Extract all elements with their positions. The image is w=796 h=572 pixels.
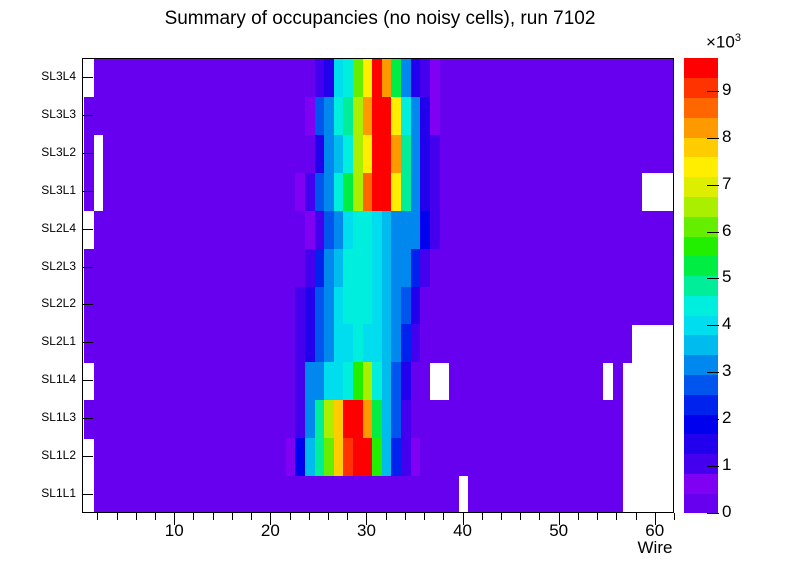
heatmap-cell bbox=[382, 59, 392, 97]
heatmap-cell bbox=[94, 59, 104, 97]
heatmap-cell bbox=[324, 287, 334, 325]
heatmap-cell bbox=[238, 249, 248, 287]
heatmap-cell bbox=[180, 287, 190, 325]
heatmap-cell bbox=[603, 173, 613, 211]
heatmap-cell bbox=[613, 324, 623, 362]
heatmap-cell bbox=[526, 249, 536, 287]
heatmap-cell bbox=[276, 324, 286, 362]
heatmap-cell bbox=[574, 249, 584, 287]
heatmap-cell bbox=[343, 173, 353, 211]
heatmap-cell bbox=[411, 173, 421, 211]
heatmap-cell bbox=[622, 59, 632, 97]
heatmap-cell bbox=[315, 59, 325, 97]
heatmap-cell bbox=[190, 362, 200, 400]
heatmap-cell bbox=[228, 362, 238, 400]
heatmap-cell bbox=[401, 438, 411, 476]
heatmap-cell bbox=[132, 438, 142, 476]
heatmap-cell bbox=[334, 211, 344, 249]
heatmap-cell bbox=[247, 287, 257, 325]
heatmap-cell bbox=[641, 135, 651, 173]
heatmap-cell bbox=[382, 135, 392, 173]
heatmap-cell bbox=[113, 438, 123, 476]
heatmap-cell bbox=[459, 287, 469, 325]
heatmap-cell bbox=[142, 362, 152, 400]
heatmap-cell bbox=[478, 135, 488, 173]
heatmap-cell bbox=[170, 324, 180, 362]
heatmap-cell bbox=[103, 324, 113, 362]
heatmap-cell bbox=[132, 362, 142, 400]
heatmap-cell bbox=[161, 135, 171, 173]
heatmap-cell bbox=[151, 287, 161, 325]
heatmap-cell bbox=[440, 59, 450, 97]
heatmap-cell bbox=[478, 438, 488, 476]
heatmap-cell bbox=[113, 135, 123, 173]
heatmap-cell bbox=[411, 400, 421, 438]
heatmap-cell bbox=[286, 173, 296, 211]
heatmap-cell bbox=[516, 173, 526, 211]
heatmap-cell bbox=[219, 211, 229, 249]
heatmap-cell bbox=[363, 97, 373, 135]
y-axis-tick-label: SL3L3 bbox=[0, 107, 76, 121]
colorbar-band bbox=[684, 58, 718, 78]
x-axis-tick bbox=[386, 513, 387, 520]
heatmap-cell bbox=[459, 249, 469, 287]
heatmap-cell bbox=[382, 97, 392, 135]
heatmap-cell bbox=[199, 249, 209, 287]
heatmap-cell bbox=[209, 324, 219, 362]
heatmap-cell bbox=[382, 287, 392, 325]
heatmap-cell bbox=[440, 211, 450, 249]
heatmap-cell bbox=[257, 400, 267, 438]
heatmap-cell bbox=[391, 324, 401, 362]
heatmap-cell bbox=[334, 249, 344, 287]
y-axis-tick bbox=[82, 342, 93, 343]
heatmap-cell bbox=[142, 476, 152, 513]
heatmap-cell bbox=[584, 249, 594, 287]
heatmap-cell bbox=[603, 400, 613, 438]
x-axis-tick bbox=[578, 513, 579, 520]
heatmap-cell bbox=[468, 324, 478, 362]
heatmap-cell bbox=[257, 324, 267, 362]
heatmap-cell bbox=[468, 400, 478, 438]
heatmap-cell bbox=[478, 211, 488, 249]
heatmap-cell bbox=[574, 400, 584, 438]
heatmap-cell bbox=[180, 438, 190, 476]
heatmap-cell bbox=[545, 324, 555, 362]
y-axis-tick bbox=[82, 229, 93, 230]
heatmap-cell bbox=[488, 362, 498, 400]
heatmap-cell bbox=[286, 211, 296, 249]
heatmap-cell bbox=[459, 135, 469, 173]
heatmap-cell bbox=[536, 173, 546, 211]
heatmap-cell bbox=[516, 324, 526, 362]
colorbar-band bbox=[684, 117, 718, 137]
heatmap-cell bbox=[449, 211, 459, 249]
colorbar-tick-label: 5 bbox=[722, 267, 731, 287]
heatmap-cell bbox=[295, 476, 305, 513]
heatmap-cell bbox=[488, 173, 498, 211]
heatmap-cell bbox=[219, 59, 229, 97]
heatmap-cell bbox=[622, 135, 632, 173]
heatmap-cell bbox=[103, 249, 113, 287]
heatmap-cell bbox=[545, 173, 555, 211]
heatmap-cell bbox=[488, 438, 498, 476]
heatmap-cell bbox=[564, 135, 574, 173]
heatmap-cell bbox=[661, 287, 671, 325]
heatmap-cell bbox=[122, 211, 132, 249]
heatmap-cell bbox=[411, 476, 421, 513]
heatmap-cell bbox=[199, 59, 209, 97]
heatmap-cell bbox=[411, 287, 421, 325]
heatmap-cell bbox=[430, 324, 440, 362]
heatmap-cell bbox=[324, 249, 334, 287]
heatmap-cell bbox=[343, 438, 353, 476]
heatmap-cell bbox=[170, 211, 180, 249]
heatmap-cell bbox=[516, 249, 526, 287]
heatmap-cell bbox=[228, 400, 238, 438]
colorbar-band bbox=[684, 157, 718, 177]
heatmap-cell bbox=[103, 400, 113, 438]
heatmap-cell bbox=[151, 438, 161, 476]
heatmap-cell bbox=[219, 400, 229, 438]
heatmap-cell bbox=[497, 362, 507, 400]
heatmap-cell bbox=[641, 97, 651, 135]
x-axis-tick bbox=[251, 513, 252, 520]
heatmap-cell bbox=[564, 400, 574, 438]
heatmap-cell bbox=[382, 249, 392, 287]
heatmap-cell bbox=[449, 249, 459, 287]
heatmap-cell bbox=[219, 438, 229, 476]
heatmap-cell bbox=[468, 362, 478, 400]
heatmap-cell bbox=[584, 211, 594, 249]
heatmap-cell bbox=[353, 287, 363, 325]
heatmap-cell bbox=[267, 438, 277, 476]
heatmap-cell bbox=[286, 324, 296, 362]
heatmap-cell bbox=[199, 400, 209, 438]
heatmap-cell bbox=[420, 211, 430, 249]
y-axis-tick bbox=[82, 115, 93, 116]
heatmap-cell bbox=[363, 362, 373, 400]
colorbar-exponent-label: ×103 bbox=[706, 32, 741, 53]
heatmap-cell bbox=[545, 211, 555, 249]
heatmap-cell bbox=[516, 59, 526, 97]
heatmap-cell bbox=[295, 287, 305, 325]
heatmap-cell bbox=[564, 362, 574, 400]
heatmap-cell bbox=[363, 438, 373, 476]
heatmap-cell bbox=[170, 438, 180, 476]
heatmap-cell bbox=[315, 287, 325, 325]
heatmap-cell bbox=[315, 211, 325, 249]
heatmap-cell bbox=[507, 249, 517, 287]
heatmap-cell bbox=[228, 476, 238, 513]
y-axis-tick bbox=[82, 380, 93, 381]
x-axis-title: Wire bbox=[620, 538, 690, 558]
heatmap-cell bbox=[94, 362, 104, 400]
colorbar-tick bbox=[707, 419, 719, 420]
heatmap-cell bbox=[411, 438, 421, 476]
heatmap-cell bbox=[142, 400, 152, 438]
heatmap-cell bbox=[142, 135, 152, 173]
heatmap-cell bbox=[430, 249, 440, 287]
heatmap-cell bbox=[516, 135, 526, 173]
heatmap-cell bbox=[526, 438, 536, 476]
heatmap-cell bbox=[257, 476, 267, 513]
heatmap-cell bbox=[584, 362, 594, 400]
x-axis-tick bbox=[309, 513, 310, 520]
heatmap-cell bbox=[353, 59, 363, 97]
heatmap-cell bbox=[401, 476, 411, 513]
heatmap-cell bbox=[199, 135, 209, 173]
heatmap-cell bbox=[151, 249, 161, 287]
heatmap-cell bbox=[267, 476, 277, 513]
heatmap-cell bbox=[257, 249, 267, 287]
heatmap-cell bbox=[170, 173, 180, 211]
heatmap-cell bbox=[247, 438, 257, 476]
heatmap-cell bbox=[574, 135, 584, 173]
heatmap-cell bbox=[430, 400, 440, 438]
heatmap-cell bbox=[190, 135, 200, 173]
heatmap-cell bbox=[632, 287, 642, 325]
heatmap-cell bbox=[305, 249, 315, 287]
heatmap-cell bbox=[315, 135, 325, 173]
heatmap-cell bbox=[545, 438, 555, 476]
heatmap-cell bbox=[391, 287, 401, 325]
heatmap-cell bbox=[353, 324, 363, 362]
heatmap-plot-area[interactable] bbox=[82, 58, 674, 513]
x-axis-tick bbox=[539, 513, 540, 520]
x-axis-tick-label: 50 bbox=[539, 521, 579, 541]
heatmap-cell bbox=[343, 400, 353, 438]
heatmap-cell bbox=[228, 59, 238, 97]
heatmap-cell bbox=[324, 324, 334, 362]
heatmap-cell bbox=[641, 211, 651, 249]
heatmap-cell bbox=[161, 211, 171, 249]
heatmap-cell bbox=[276, 249, 286, 287]
heatmap-cell bbox=[238, 173, 248, 211]
heatmap-cell bbox=[536, 97, 546, 135]
heatmap-cell bbox=[507, 400, 517, 438]
heatmap-cell bbox=[334, 59, 344, 97]
heatmap-cell bbox=[142, 173, 152, 211]
heatmap-cell bbox=[440, 438, 450, 476]
heatmap-cell bbox=[343, 135, 353, 173]
heatmap-cell bbox=[247, 362, 257, 400]
heatmap-cell bbox=[267, 173, 277, 211]
heatmap-cell bbox=[478, 400, 488, 438]
heatmap-cell bbox=[199, 362, 209, 400]
heatmap-cell bbox=[603, 135, 613, 173]
heatmap-cell bbox=[113, 211, 123, 249]
y-axis-tick bbox=[82, 304, 93, 305]
heatmap-cell bbox=[382, 438, 392, 476]
heatmap-cell bbox=[257, 438, 267, 476]
heatmap-cell bbox=[440, 173, 450, 211]
heatmap-cell bbox=[459, 59, 469, 97]
heatmap-cell bbox=[343, 97, 353, 135]
heatmap-cell bbox=[593, 287, 603, 325]
heatmap-cell bbox=[103, 59, 113, 97]
heatmap-cell bbox=[161, 400, 171, 438]
heatmap-cell bbox=[372, 287, 382, 325]
heatmap-cell bbox=[391, 400, 401, 438]
heatmap-cell bbox=[564, 287, 574, 325]
heatmap-cell bbox=[238, 211, 248, 249]
heatmap-cell bbox=[84, 324, 94, 362]
heatmap-cell bbox=[151, 476, 161, 513]
heatmap-cell bbox=[420, 324, 430, 362]
heatmap-cell bbox=[603, 287, 613, 325]
heatmap-cell bbox=[536, 476, 546, 513]
heatmap-cell bbox=[295, 324, 305, 362]
heatmap-cell bbox=[305, 287, 315, 325]
heatmap-cell bbox=[382, 476, 392, 513]
heatmap-cell bbox=[170, 362, 180, 400]
heatmap-cell bbox=[670, 135, 674, 173]
heatmap-cell bbox=[295, 249, 305, 287]
heatmap-cell bbox=[584, 97, 594, 135]
heatmap-cell bbox=[545, 97, 555, 135]
heatmap-cell bbox=[420, 249, 430, 287]
heatmap-cell bbox=[295, 173, 305, 211]
heatmap-cell bbox=[651, 135, 661, 173]
heatmap-cell bbox=[459, 400, 469, 438]
colorbar-tick bbox=[707, 232, 719, 233]
heatmap-cell bbox=[94, 400, 104, 438]
heatmap-cell bbox=[593, 476, 603, 513]
x-axis-tick bbox=[674, 513, 675, 520]
colorbar-band bbox=[684, 375, 718, 395]
heatmap-cell bbox=[545, 362, 555, 400]
heatmap-cell bbox=[295, 438, 305, 476]
heatmap-cell bbox=[353, 135, 363, 173]
colorbar[interactable] bbox=[684, 58, 718, 513]
heatmap-cell bbox=[622, 211, 632, 249]
heatmap-cell bbox=[353, 249, 363, 287]
heatmap-cell bbox=[478, 249, 488, 287]
x-axis-tick bbox=[405, 513, 406, 520]
colorbar-tick bbox=[707, 513, 719, 514]
heatmap-cell bbox=[372, 97, 382, 135]
heatmap-cell bbox=[324, 97, 334, 135]
heatmap-cell bbox=[122, 362, 132, 400]
heatmap-cell bbox=[420, 59, 430, 97]
x-axis-tick bbox=[636, 513, 637, 520]
heatmap-cell bbox=[151, 211, 161, 249]
heatmap-cell bbox=[180, 135, 190, 173]
heatmap-cell bbox=[247, 135, 257, 173]
heatmap-cell bbox=[497, 135, 507, 173]
heatmap-cell bbox=[488, 59, 498, 97]
heatmap-cell bbox=[257, 211, 267, 249]
heatmap-cell bbox=[132, 287, 142, 325]
heatmap-cell bbox=[247, 59, 257, 97]
heatmap-cell bbox=[536, 287, 546, 325]
heatmap-cell bbox=[420, 173, 430, 211]
heatmap-cell bbox=[142, 438, 152, 476]
heatmap-cell bbox=[545, 400, 555, 438]
heatmap-cell bbox=[324, 135, 334, 173]
y-axis-tick bbox=[82, 418, 93, 419]
heatmap-cell bbox=[536, 135, 546, 173]
colorbar-tick bbox=[707, 185, 719, 186]
heatmap-cell bbox=[651, 249, 661, 287]
heatmap-cell bbox=[632, 135, 642, 173]
heatmap-cell bbox=[343, 362, 353, 400]
colorbar-band bbox=[684, 256, 718, 276]
heatmap-cell bbox=[478, 59, 488, 97]
heatmap-cell bbox=[334, 362, 344, 400]
heatmap-cell bbox=[391, 59, 401, 97]
heatmap-cell bbox=[190, 211, 200, 249]
heatmap-cell bbox=[113, 249, 123, 287]
heatmap-cell bbox=[363, 400, 373, 438]
heatmap-cell bbox=[401, 249, 411, 287]
heatmap-cell bbox=[122, 135, 132, 173]
heatmap-cell bbox=[459, 438, 469, 476]
heatmap-cell bbox=[276, 211, 286, 249]
heatmap-cell bbox=[209, 476, 219, 513]
heatmap-cell bbox=[190, 59, 200, 97]
heatmap-cell bbox=[555, 362, 565, 400]
heatmap-cell bbox=[555, 438, 565, 476]
x-axis-tick bbox=[97, 513, 98, 520]
heatmap-cell bbox=[122, 173, 132, 211]
heatmap-cell bbox=[391, 362, 401, 400]
heatmap-cell bbox=[613, 97, 623, 135]
heatmap-cell bbox=[536, 59, 546, 97]
heatmap-cell bbox=[593, 400, 603, 438]
heatmap-cell bbox=[122, 59, 132, 97]
heatmap-cell bbox=[209, 249, 219, 287]
heatmap-cell bbox=[353, 97, 363, 135]
heatmap-cell bbox=[190, 438, 200, 476]
heatmap-cell bbox=[199, 324, 209, 362]
heatmap-cell bbox=[94, 211, 104, 249]
heatmap-cell bbox=[526, 59, 536, 97]
x-axis-tick bbox=[501, 513, 502, 520]
heatmap-cell bbox=[661, 97, 671, 135]
heatmap-cell bbox=[584, 324, 594, 362]
heatmap-cell bbox=[536, 324, 546, 362]
heatmap-cell bbox=[564, 173, 574, 211]
heatmap-cell bbox=[584, 476, 594, 513]
heatmap-cell bbox=[420, 287, 430, 325]
heatmap-cell bbox=[516, 211, 526, 249]
heatmap-cell bbox=[411, 97, 421, 135]
heatmap-cell bbox=[132, 59, 142, 97]
heatmap-cell bbox=[507, 287, 517, 325]
heatmap-cell bbox=[603, 249, 613, 287]
heatmap-cell bbox=[545, 59, 555, 97]
heatmap-cell bbox=[449, 135, 459, 173]
heatmap-cell bbox=[574, 324, 584, 362]
heatmap-cell bbox=[324, 211, 334, 249]
heatmap-cell bbox=[613, 287, 623, 325]
heatmap-cell bbox=[315, 324, 325, 362]
y-axis-tick bbox=[82, 456, 93, 457]
heatmap-cell bbox=[488, 324, 498, 362]
heatmap-cell bbox=[286, 135, 296, 173]
heatmap-cell bbox=[161, 287, 171, 325]
heatmap-cell bbox=[190, 400, 200, 438]
heatmap-cell bbox=[632, 249, 642, 287]
heatmap-cell bbox=[343, 476, 353, 513]
colorbar-tick-label: 7 bbox=[722, 174, 731, 194]
heatmap-cell bbox=[411, 362, 421, 400]
heatmap-cell bbox=[497, 173, 507, 211]
x-axis-tick-label: 20 bbox=[250, 521, 290, 541]
heatmap-cell bbox=[228, 135, 238, 173]
